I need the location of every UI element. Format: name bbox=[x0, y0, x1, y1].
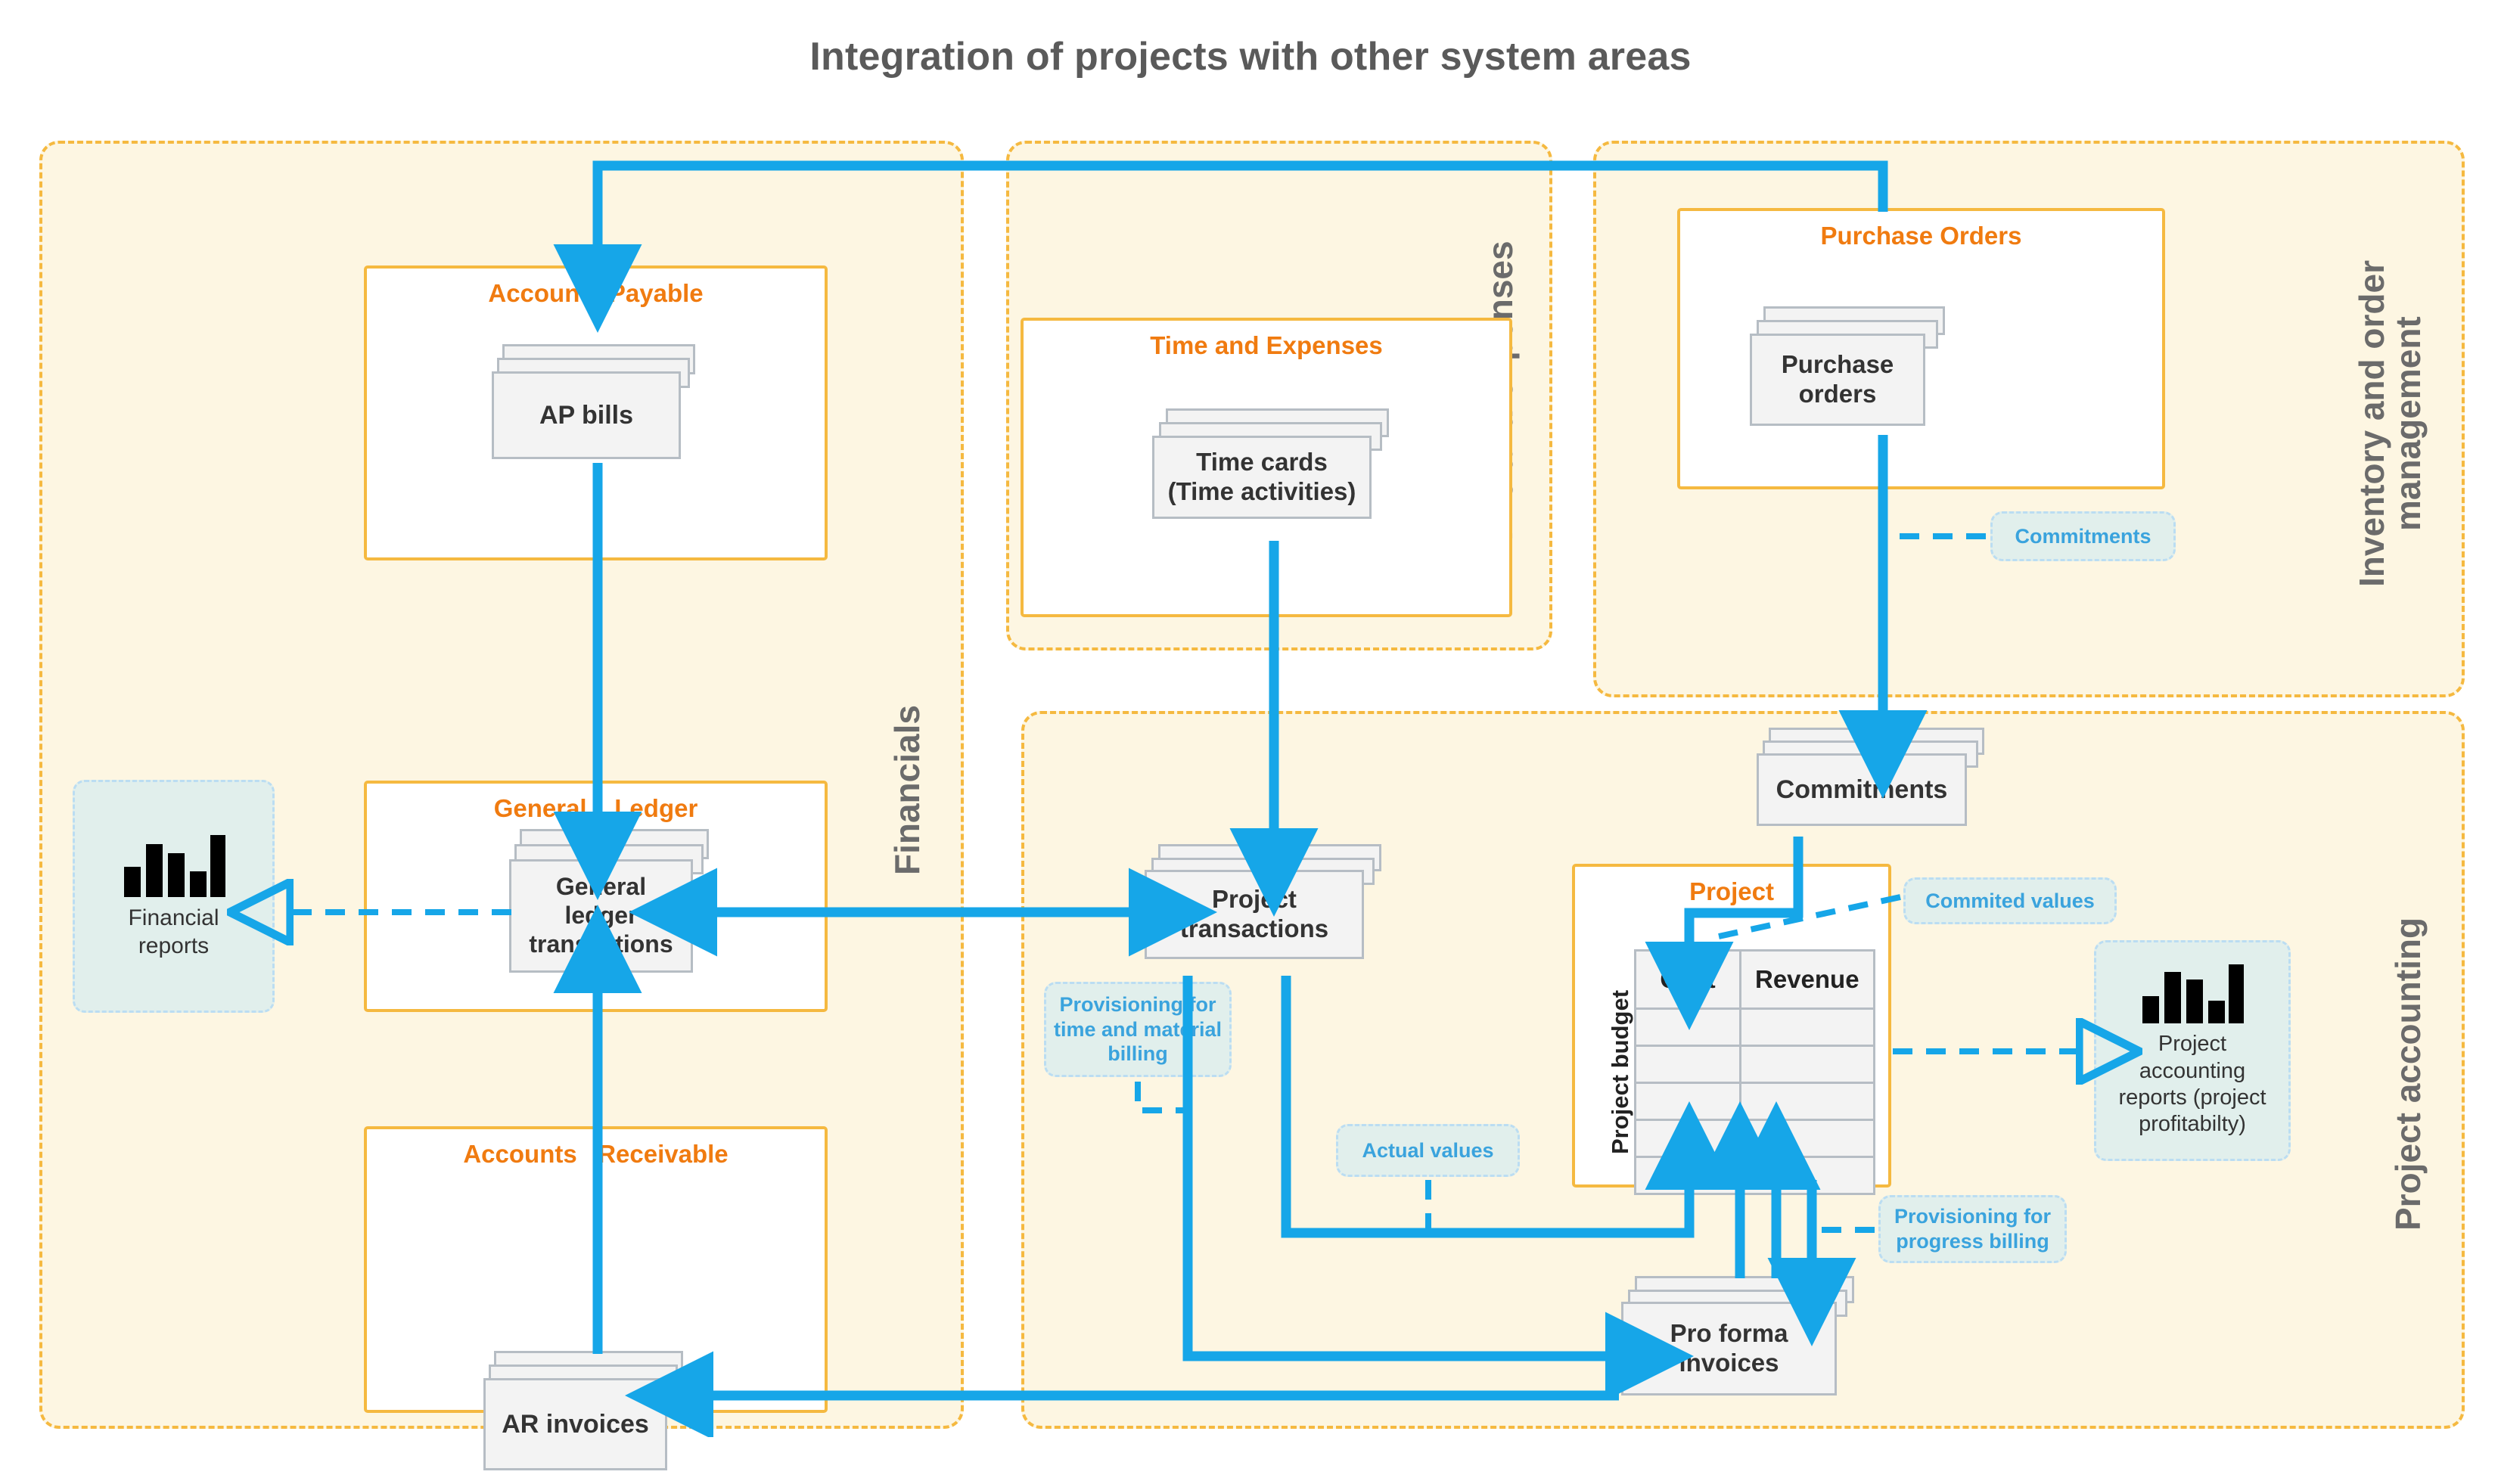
column-header-revenue: Revenue bbox=[1741, 951, 1875, 1009]
table-row bbox=[1636, 1120, 1875, 1157]
doc-label-general-ledger-transactions: General ledger transactions bbox=[509, 859, 693, 973]
doc-label-purchase-orders: Purchase orders bbox=[1750, 334, 1925, 426]
table-row bbox=[1636, 1046, 1875, 1083]
cell-cost bbox=[1636, 1009, 1741, 1046]
doc-general-ledger-transactions: General ledger transactions bbox=[509, 829, 713, 988]
cell-revenue bbox=[1741, 1009, 1875, 1046]
doc-ap-bills: AP bills bbox=[492, 344, 696, 473]
region-label-inventory-and-order-management: Inventory and order management bbox=[2354, 189, 2445, 658]
annotation-commited-values: Commited values bbox=[1903, 877, 2117, 924]
cell-revenue bbox=[1741, 1046, 1875, 1083]
region-label-financials: Financials bbox=[890, 666, 943, 915]
doc-label-ap-bills: AP bills bbox=[492, 371, 681, 459]
table-row bbox=[1636, 1083, 1875, 1120]
doc-label-time-cards: Time cards (Time activities) bbox=[1152, 436, 1372, 519]
annotation-commitments: Commitments bbox=[1990, 511, 2176, 561]
module-title-accounts-receivable: Accounts Receivable bbox=[367, 1140, 825, 1169]
module-title-purchase-orders: Purchase Orders bbox=[1680, 222, 2162, 250]
doc-project-transactions: Project transactions bbox=[1145, 844, 1394, 980]
cell-revenue bbox=[1741, 1083, 1875, 1120]
cell-revenue bbox=[1741, 1157, 1875, 1194]
doc-label-pro-forma-invoices: Pro forma invoices bbox=[1621, 1302, 1837, 1396]
report-project-accounting-reports: Project accounting reports (project prof… bbox=[2094, 940, 2291, 1161]
doc-label-ar-invoices: AR invoices bbox=[483, 1378, 667, 1470]
cell-cost bbox=[1636, 1157, 1741, 1194]
doc-ar-invoices: AR invoices bbox=[483, 1351, 695, 1484]
column-header-cost: Cost bbox=[1636, 951, 1741, 1009]
bar-chart-icon bbox=[121, 832, 227, 897]
table-row bbox=[1636, 1009, 1875, 1046]
doc-time-cards: Time cards (Time activities) bbox=[1152, 408, 1394, 545]
doc-pro-forma-invoices: Pro forma invoices bbox=[1621, 1276, 1871, 1408]
module-title-general-ledger: General Ledger bbox=[367, 794, 825, 823]
report-label-financial-reports: Financial reports bbox=[128, 905, 219, 960]
doc-label-project-transactions: Project transactions bbox=[1145, 870, 1364, 959]
cell-cost bbox=[1636, 1083, 1741, 1120]
doc-commitments: Commitments bbox=[1757, 728, 1999, 841]
cell-revenue bbox=[1741, 1120, 1875, 1157]
table-header-row: Cost Revenue bbox=[1636, 951, 1875, 1009]
annotation-actual-values: Actual values bbox=[1336, 1124, 1520, 1177]
cell-cost bbox=[1636, 1046, 1741, 1083]
cell-cost bbox=[1636, 1120, 1741, 1157]
project-budget: Project budget Cost Revenue bbox=[1604, 949, 1903, 1195]
doc-purchase-orders: Purchase orders bbox=[1750, 306, 1977, 442]
annotation-provisioning-time-material: Provisioning for time and material billi… bbox=[1044, 982, 1232, 1077]
module-title-time-and-expenses: Time and Expenses bbox=[1024, 331, 1509, 360]
project-budget-side-label: Project budget bbox=[1604, 949, 1634, 1195]
project-budget-table: Cost Revenue bbox=[1634, 949, 1875, 1195]
report-financial-reports: Financial reports bbox=[73, 780, 275, 1013]
module-title-project: Project bbox=[1575, 877, 1888, 906]
annotation-provisioning-progress-billing: Provisioning for progress billing bbox=[1878, 1195, 2067, 1263]
region-label-project-accounting: Project accounting bbox=[2391, 877, 2444, 1271]
bar-chart-icon bbox=[2139, 963, 2245, 1023]
report-label-project-accounting-reports: Project accounting reports (project prof… bbox=[2118, 1031, 2266, 1138]
doc-label-commitments: Commitments bbox=[1757, 753, 1967, 826]
module-title-accounts-payable: Accounts Payable bbox=[367, 279, 825, 308]
table-row bbox=[1636, 1157, 1875, 1194]
page-title: Integration of projects with other syste… bbox=[0, 34, 2501, 79]
